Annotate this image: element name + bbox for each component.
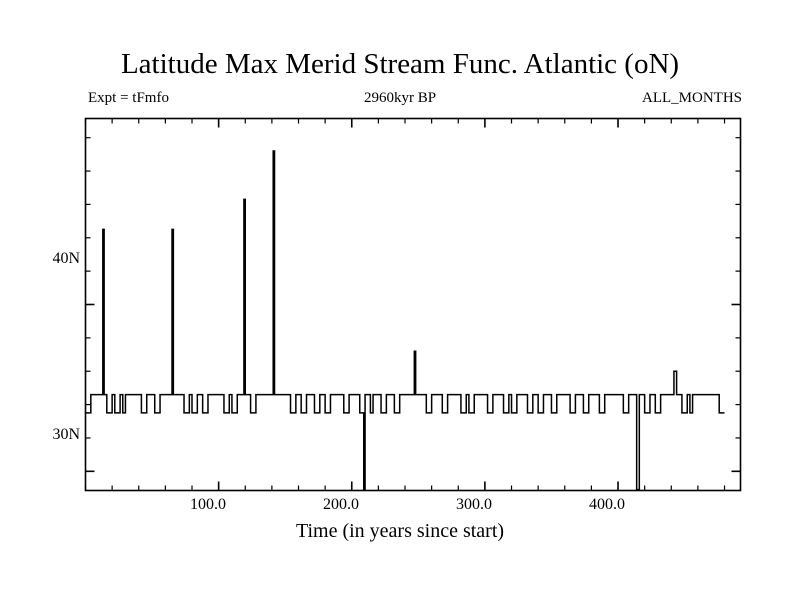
data-series-group bbox=[86, 151, 725, 490]
figure-canvas: Latitude Max Merid Stream Func. Atlantic… bbox=[0, 0, 800, 600]
axis-frame bbox=[86, 119, 741, 491]
plot-area bbox=[0, 0, 800, 600]
axis-ticks bbox=[86, 119, 741, 491]
